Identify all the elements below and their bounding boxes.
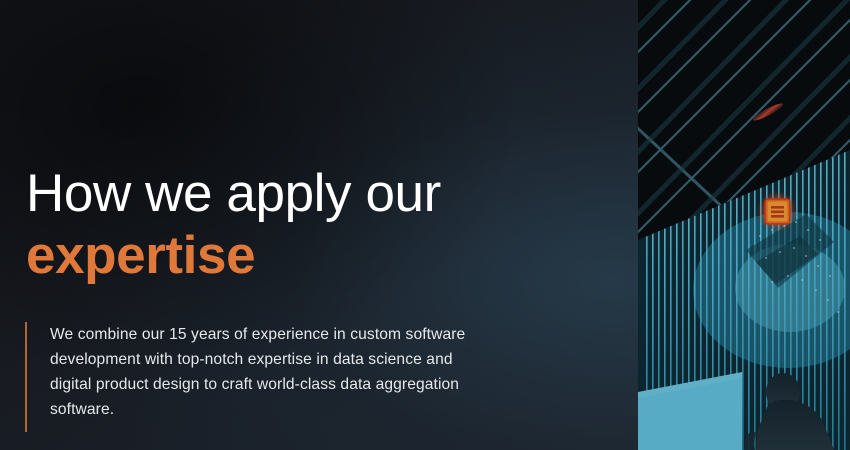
slide-root: How we apply our expertise We combine ou…	[0, 0, 850, 450]
hero-photo: Dark exhibition hall with diagonal ceili…	[638, 0, 850, 450]
accent-rule	[25, 322, 27, 432]
headline-line-2-accent: expertise	[26, 225, 596, 287]
body-paragraph: We combine our 15 years of experience in…	[50, 322, 490, 422]
hero-photo-image	[638, 0, 850, 450]
body-block: We combine our 15 years of experience in…	[25, 322, 525, 422]
page-title: How we apply our expertise	[26, 163, 596, 287]
headline-line-1: How we apply our	[26, 163, 596, 225]
